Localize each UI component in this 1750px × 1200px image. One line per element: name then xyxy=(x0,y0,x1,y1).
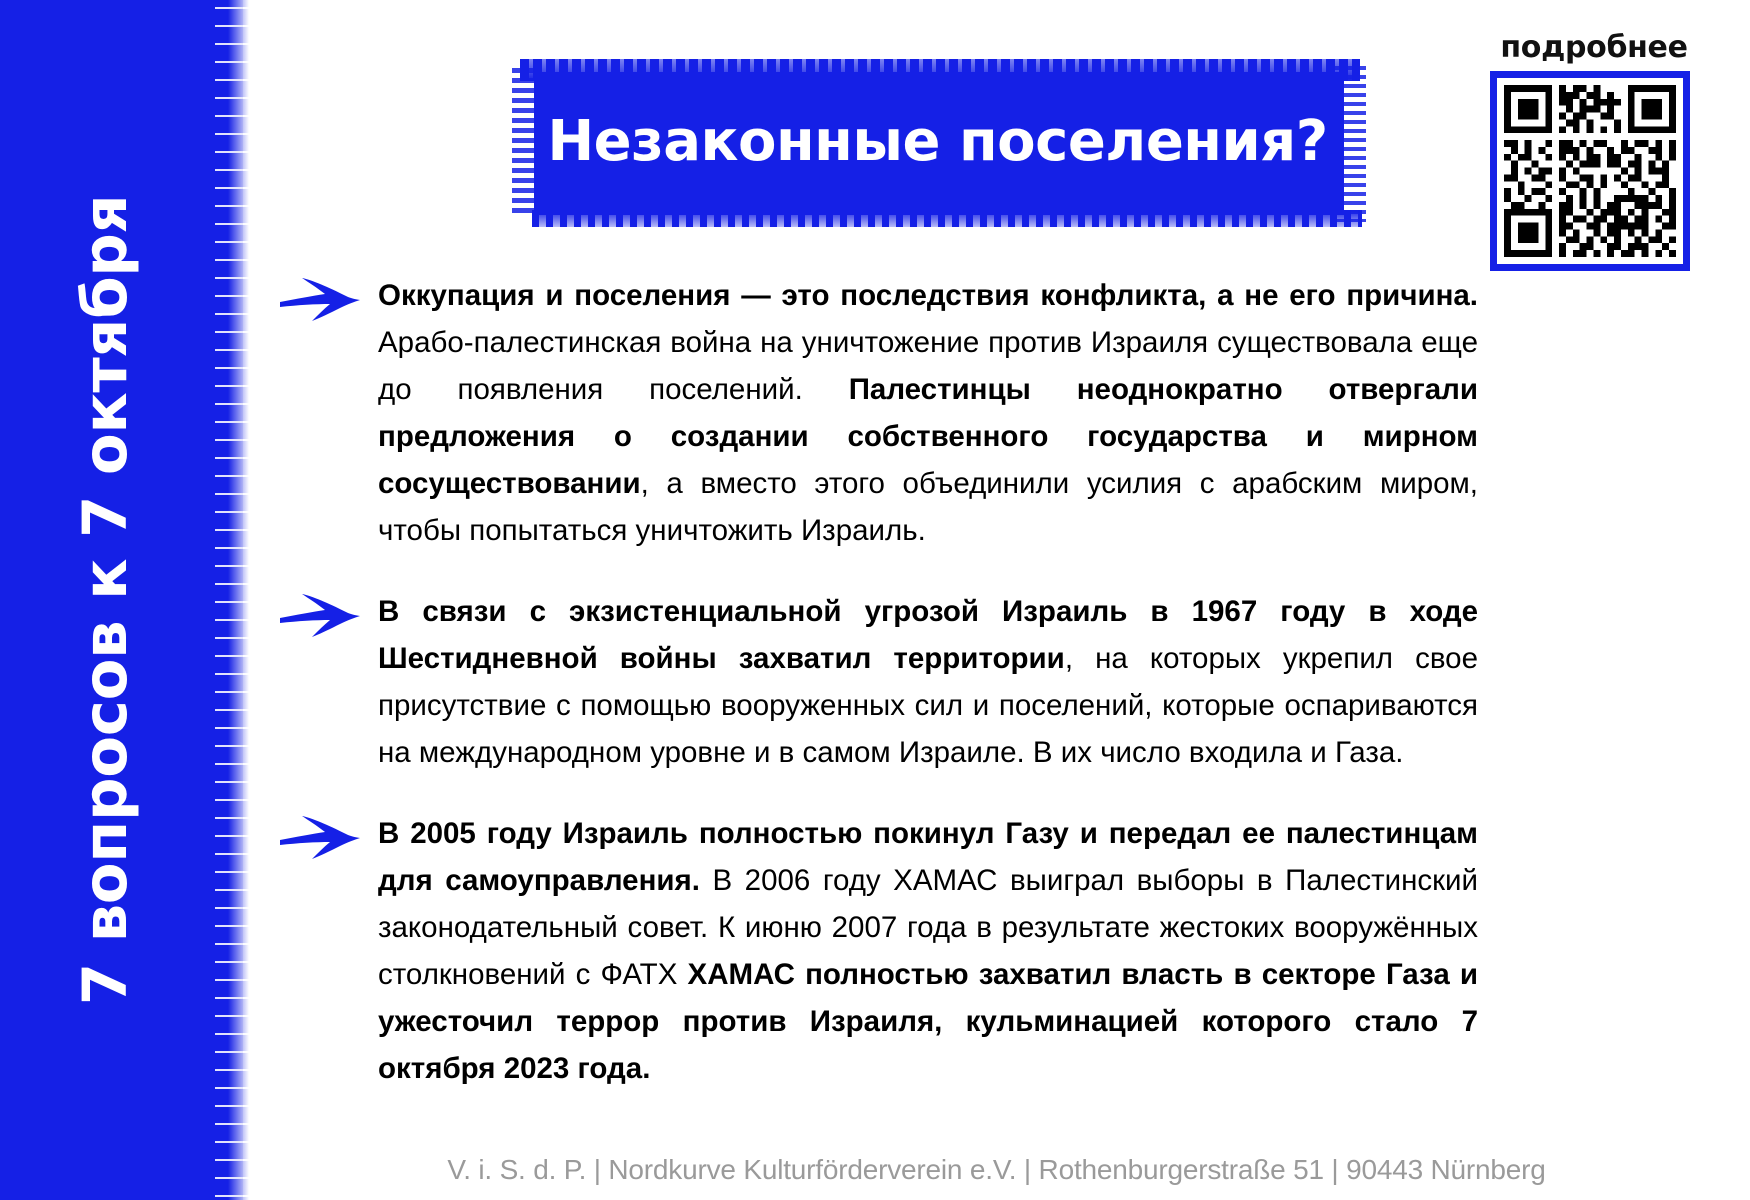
bullet-paragraph-3: В 2005 году Израиль полностью покинул Га… xyxy=(378,810,1478,1092)
qr-block[interactable]: подробнее xyxy=(1490,30,1698,271)
content-column: Оккупация и поселения — это последствия … xyxy=(378,272,1478,1126)
page-title: Незаконные поселения? xyxy=(510,54,1365,229)
sidebar-blue-bar: 7 вопросов к 7 октября xyxy=(0,0,243,1200)
qr-frame[interactable] xyxy=(1490,71,1690,271)
paragraph-text-3: В 2005 году Израиль полностью покинул Га… xyxy=(378,810,1478,1092)
arrow-right-icon xyxy=(278,592,364,638)
title-banner: Незаконные поселения? xyxy=(510,54,1365,229)
bullet-paragraph-1: Оккупация и поселения — это последствия … xyxy=(378,272,1478,554)
sidebar-brush-edge xyxy=(215,0,249,1200)
qr-caption: подробнее xyxy=(1490,30,1698,65)
footer-imprint: V. i. S. d. P. | Nordkurve Kulturförderv… xyxy=(243,1154,1750,1186)
paragraph-text-2: В связи с экзистенциальной угрозой Израи… xyxy=(378,588,1478,776)
qr-code-icon xyxy=(1504,85,1676,257)
paragraph-text-1: Оккупация и поселения — это последствия … xyxy=(378,272,1478,554)
arrow-right-icon xyxy=(278,814,364,860)
sidebar-vertical-title: 7 вопросов к 7 октября xyxy=(0,0,210,1200)
arrow-right-icon xyxy=(278,276,364,322)
bullet-paragraph-2: В связи с экзистенциальной угрозой Израи… xyxy=(378,588,1478,776)
